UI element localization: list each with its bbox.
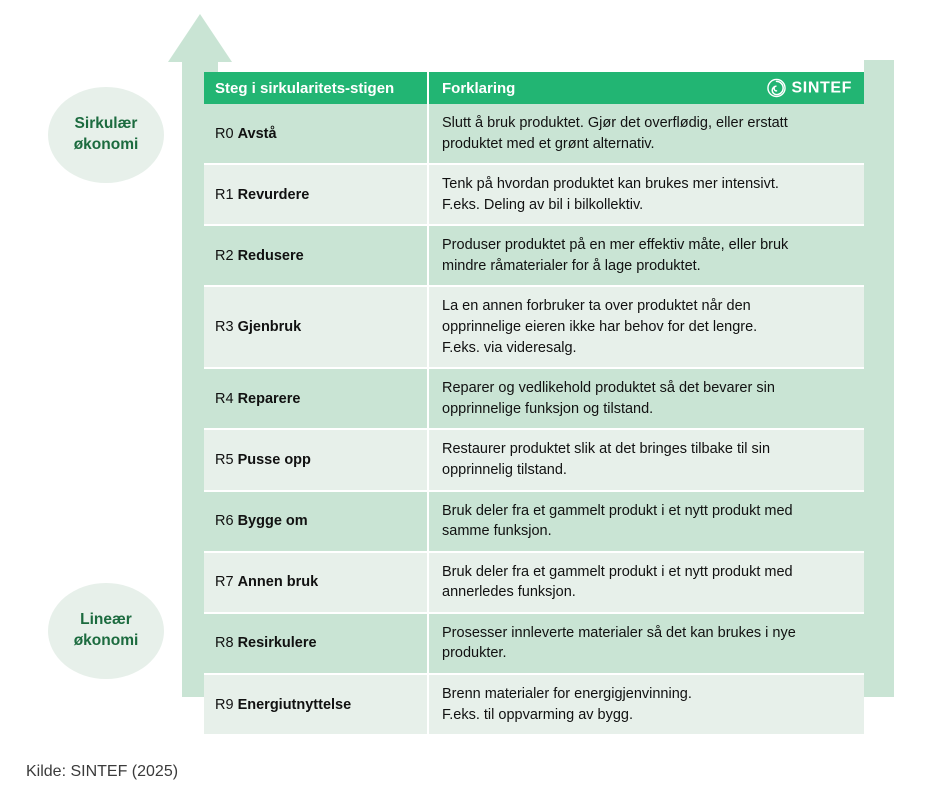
step-code: R1: [215, 187, 234, 203]
label-circular-economy-text: Sirkulær økonomi: [74, 114, 139, 156]
step-name: Gjenbruk: [238, 319, 302, 335]
step-code: R3: [215, 319, 234, 335]
table-cell-explanation: Brenn materialer for energigjenvinning. …: [428, 674, 864, 735]
column-header-explanation-text: Forklaring: [442, 80, 515, 97]
step-code: R2: [215, 248, 234, 264]
table-row: R4 Reparere Reparer og vedlikehold produ…: [204, 368, 864, 429]
step-name: Annen bruk: [238, 574, 319, 590]
table-row: R5 Pusse opp Restaurer produktet slik at…: [204, 429, 864, 490]
table-cell-explanation: Prosesser innleverte materialer så det k…: [428, 613, 864, 674]
table-row: R0 Avstå Slutt å bruk produktet. Gjør de…: [204, 104, 864, 164]
table-cell-step: R7 Annen bruk: [204, 552, 428, 613]
step-name: Bygge om: [238, 513, 308, 529]
table-cell-step: R1 Revurdere: [204, 164, 428, 225]
table-cell-step: R3 Gjenbruk: [204, 286, 428, 368]
step-code: R9: [215, 697, 234, 713]
step-name: Avstå: [238, 126, 277, 142]
table-cell-explanation: Bruk deler fra et gammelt produkt i et n…: [428, 552, 864, 613]
step-code: R0: [215, 126, 234, 142]
table-cell-step: R4 Reparere: [204, 368, 428, 429]
label-circular-economy: Sirkulær økonomi: [48, 87, 164, 183]
table-row: R6 Bygge om Bruk deler fra et gammelt pr…: [204, 491, 864, 552]
table-cell-explanation: Tenk på hvordan produktet kan brukes mer…: [428, 164, 864, 225]
step-code: R5: [215, 452, 234, 468]
table-cell-explanation: Produser produktet på en mer effektiv må…: [428, 225, 864, 286]
upward-arrow-head-icon: [168, 14, 232, 62]
circularity-ladder-figure: Sirkulær økonomi Lineær økonomi Steg i s…: [0, 0, 945, 800]
step-name: Revurdere: [238, 187, 310, 203]
table-cell-explanation: Reparer og vedlikehold produktet så det …: [428, 368, 864, 429]
step-code: R7: [215, 574, 234, 590]
step-code: R4: [215, 391, 234, 407]
column-header-step: Steg i sirkularitets-stigen: [204, 72, 428, 104]
table-row: R8 Resirkulere Prosesser innleverte mate…: [204, 613, 864, 674]
label-linear-economy-text: Lineær økonomi: [74, 610, 139, 652]
step-code: R8: [215, 635, 234, 651]
step-code: R6: [215, 513, 234, 529]
sintef-logo: SINTEF: [767, 79, 853, 98]
table-cell-step: R9 Energiutnyttelse: [204, 674, 428, 735]
table-cell-step: R5 Pusse opp: [204, 429, 428, 490]
sintef-wordmark: SINTEF: [792, 79, 853, 97]
table-cell-step: R8 Resirkulere: [204, 613, 428, 674]
table-cell-step: R2 Redusere: [204, 225, 428, 286]
table-row: R2 Redusere Produser produktet på en mer…: [204, 225, 864, 286]
table-row: R3 Gjenbruk La en annen forbruker ta ove…: [204, 286, 864, 368]
step-name: Energiutnyttelse: [238, 697, 352, 713]
table-cell-explanation: La en annen forbruker ta over produktet …: [428, 286, 864, 368]
step-name: Resirkulere: [238, 635, 317, 651]
table-body: R0 Avstå Slutt å bruk produktet. Gjør de…: [204, 104, 864, 735]
table-cell-explanation: Slutt å bruk produktet. Gjør det overflø…: [428, 104, 864, 164]
sintef-swirl-icon: [767, 79, 786, 98]
table-cell-explanation: Bruk deler fra et gammelt produkt i et n…: [428, 491, 864, 552]
step-name: Redusere: [238, 248, 304, 264]
table-header-row: Steg i sirkularitets-stigen Forklaring S…: [204, 72, 864, 104]
table-row: R1 Revurdere Tenk på hvordan produktet k…: [204, 164, 864, 225]
step-name: Reparere: [238, 391, 301, 407]
circularity-ladder-table: Steg i sirkularitets-stigen Forklaring S…: [204, 72, 864, 736]
step-name: Pusse opp: [238, 452, 311, 468]
right-pillar-bar: [864, 60, 894, 697]
table-row: R9 Energiutnyttelse Brenn materialer for…: [204, 674, 864, 735]
table-cell-explanation: Restaurer produktet slik at det bringes …: [428, 429, 864, 490]
table-cell-step: R0 Avstå: [204, 104, 428, 164]
column-header-explanation: Forklaring SINTEF: [428, 72, 864, 104]
source-caption: Kilde: SINTEF (2025): [26, 763, 178, 781]
table-row: R7 Annen bruk Bruk deler fra et gammelt …: [204, 552, 864, 613]
label-linear-economy: Lineær økonomi: [48, 583, 164, 679]
table-cell-step: R6 Bygge om: [204, 491, 428, 552]
